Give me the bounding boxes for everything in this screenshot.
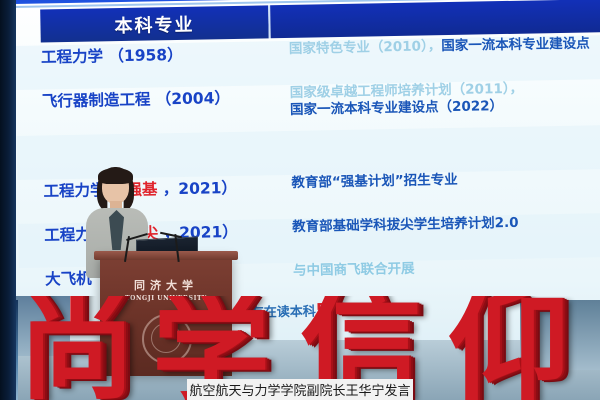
podium-university-cn: 同济大学 [134,277,198,293]
table-cell-notes: 国家级卓越工程师培养计划（2011）， 国家一流本科专业建设点（2022） [290,79,600,119]
program-name: 飞行器制造工程 [42,91,151,111]
podium-top-edge [94,251,238,260]
program-year: （1958） [108,46,182,65]
caption-bar: 航空航天与力学学院副院长王华宁发言 [0,378,600,400]
screenshot-stage: 本科专业 工程力学 （1958） 国家特色专业（2010），国家一流本科专业建设… [0,0,600,400]
note-soft: 国家特色专业（2010）， [289,38,442,57]
table-header-program: 本科专业 [40,5,271,42]
note-strong: 教育部“强基计划”招生专业 [291,172,458,191]
note-soft: 与中国商飞联合开展 [293,261,415,279]
speaker-hair-top [98,168,133,184]
table-cell-program: 工程力学 （强基 ，2021） [43,175,283,201]
note-strong: 教育部基础学科拔尖学生培养计划2.0 [292,215,519,235]
note-strong: 国家一流本科专业建设点（2022） [290,98,503,118]
table-header-program-label: 本科专业 [114,10,194,37]
table-header-notes [270,0,600,38]
program-year: ，2021） [163,179,237,198]
program-name: 工程力学 [41,47,103,66]
screen-bezel-left [0,0,16,400]
program-year: （2004） [156,89,230,108]
note-strong: 国家一流本科专业建设点 [441,35,590,54]
table-cell-program: 飞行器制造工程 （2004） [42,85,282,111]
table-cell-program: 工程力学 （1958） [41,41,281,67]
table-cell-notes: 国家特色专业（2010），国家一流本科专业建设点 [289,35,600,58]
caption-text: 航空航天与力学学院副院长王华宁发言 [187,379,412,400]
